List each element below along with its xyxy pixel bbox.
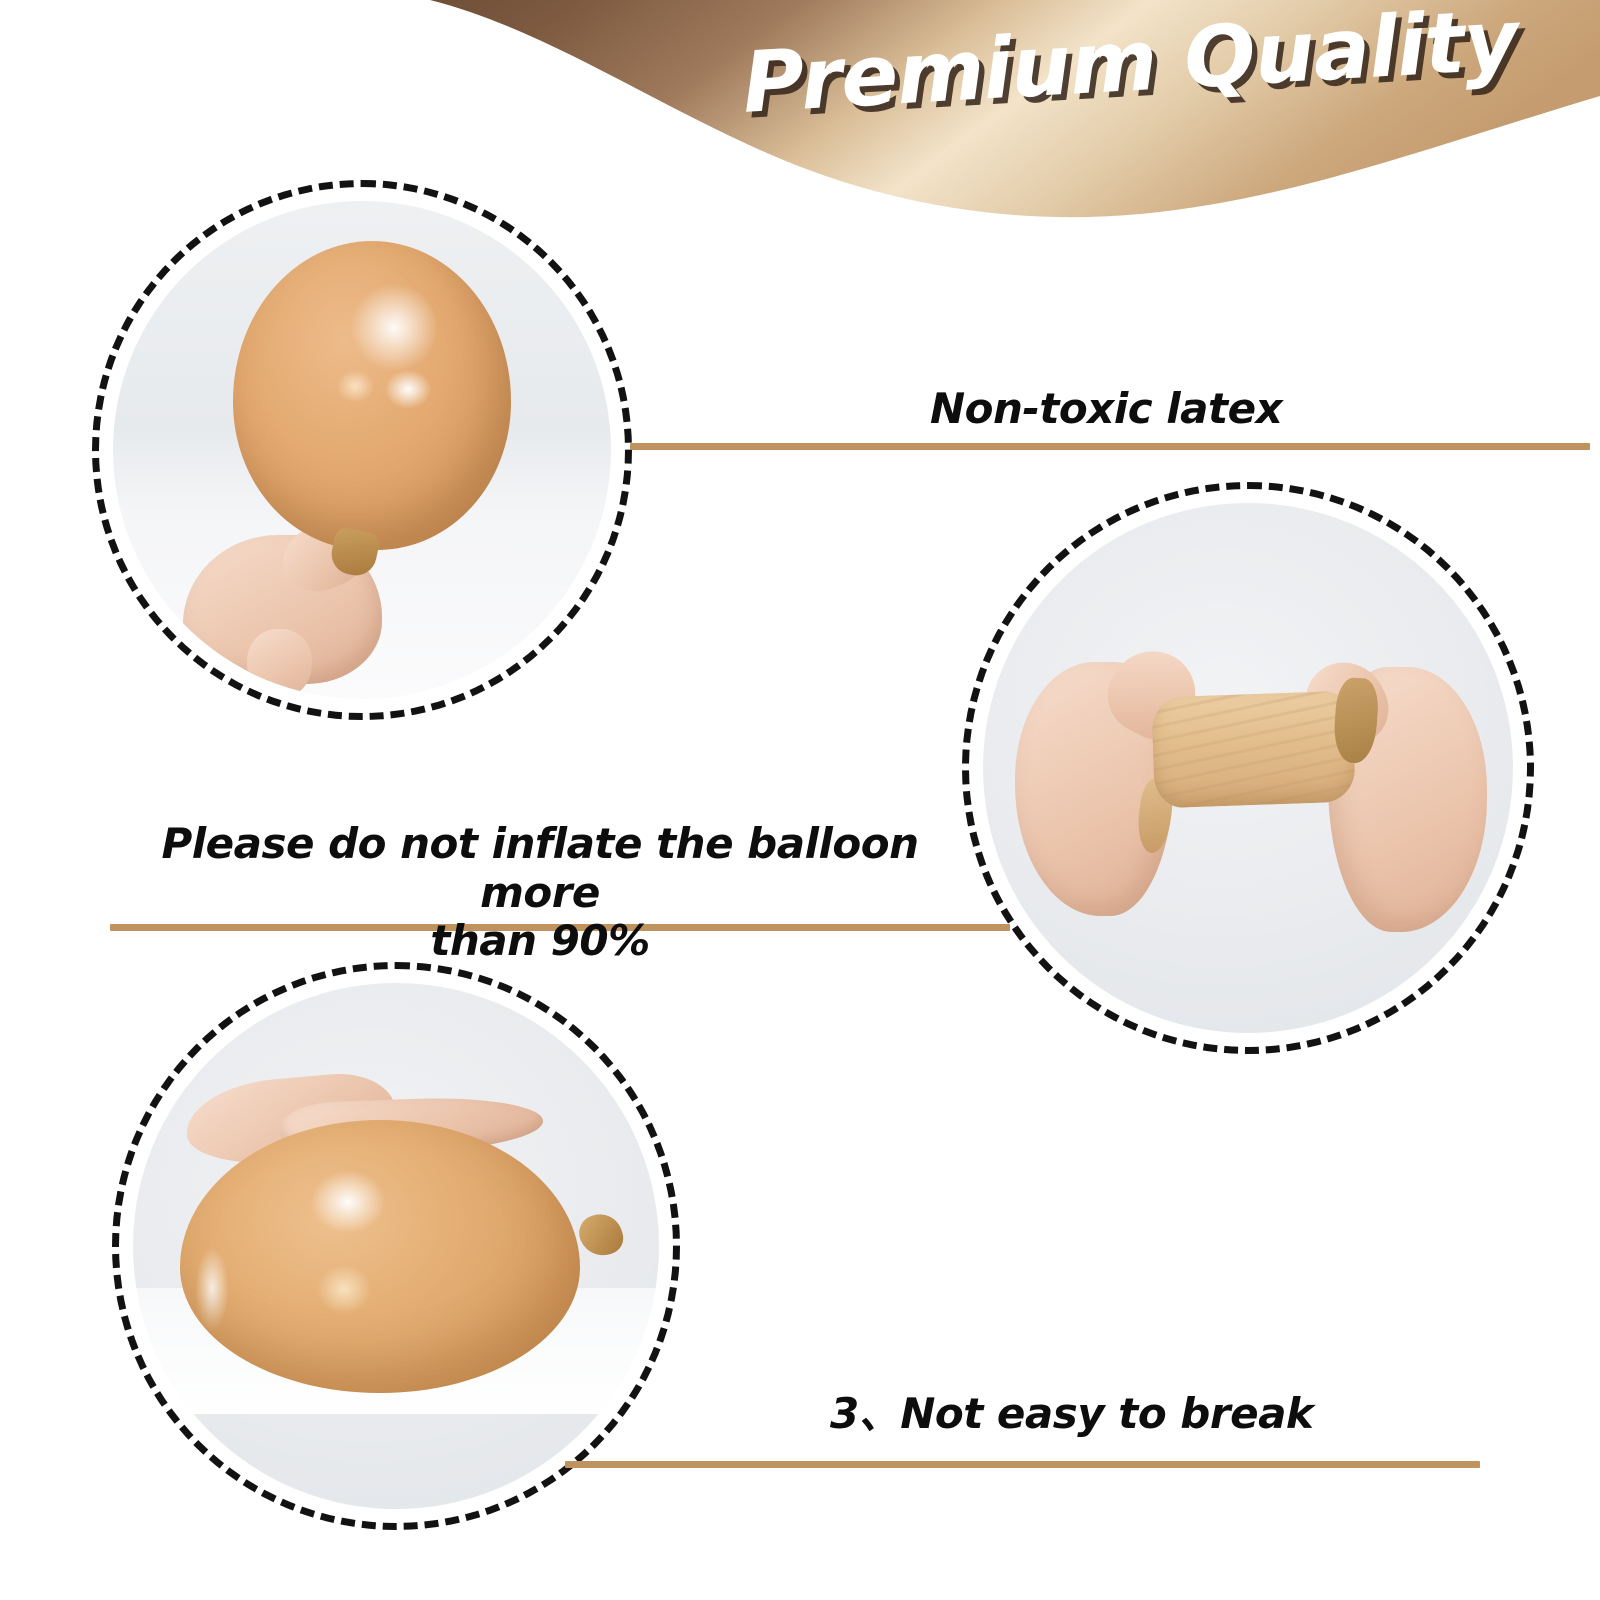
callout-label-not-easy-to-break: 3、Not easy to break xyxy=(830,1390,1530,1439)
callout-2-line-2: than 90% xyxy=(430,916,649,965)
infographic-canvas: Premium Quality Non-toxic latex Plea xyxy=(0,0,1600,1600)
photo-not-easy-to-break xyxy=(112,962,680,1530)
balloon-inflated-shape xyxy=(233,241,512,550)
photo-non-toxic-latex xyxy=(92,180,632,720)
latex-balloon-stretched-shape xyxy=(1151,690,1356,808)
photo-inflate-limit xyxy=(962,482,1534,1054)
callout-label-non-toxic-latex: Non-toxic latex xyxy=(930,385,1550,434)
photo-1-image xyxy=(113,201,611,699)
callout-2-line-1: Please do not inflate the balloon more xyxy=(162,819,919,917)
callout-label-inflate-limit: Please do not inflate the balloon more t… xyxy=(100,820,980,966)
callout-rule-3 xyxy=(565,1461,1480,1468)
photo-2-image xyxy=(983,503,1513,1033)
callout-rule-1 xyxy=(630,443,1590,450)
finger-shape xyxy=(247,629,312,699)
photo-3-image xyxy=(133,983,659,1509)
